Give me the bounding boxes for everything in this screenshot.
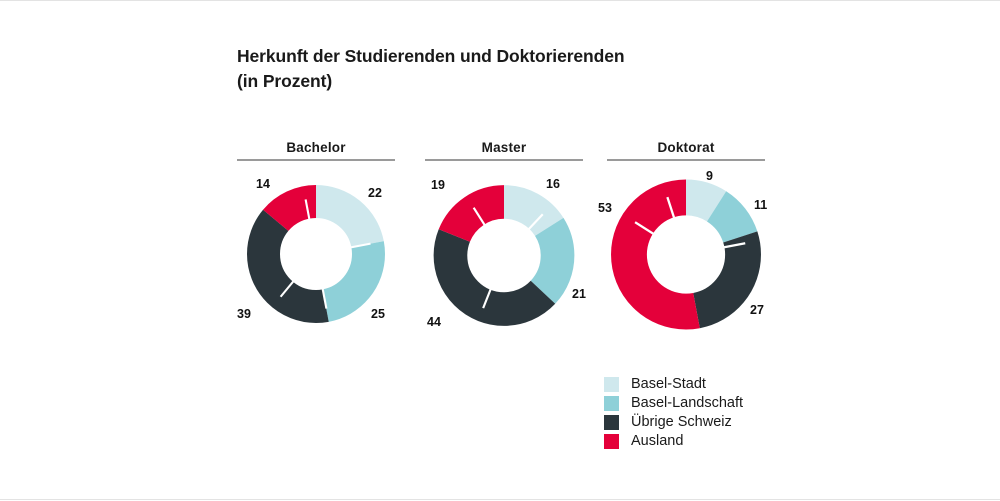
legend: Basel-Stadt Basel-Landschaft Übrige Schw… — [604, 375, 743, 451]
panel-master: Master — [425, 140, 583, 340]
label-doktorat-basel-landschaft: 11 — [754, 199, 767, 212]
panel-doktorat: Doktorat — [607, 140, 765, 345]
donut-bachelor — [241, 179, 391, 329]
legend-swatch-basel-landschaft — [604, 396, 619, 411]
legend-swatch-uebrige-schweiz — [604, 415, 619, 430]
legend-item-uebrige-schweiz[interactable]: Übrige Schweiz — [604, 413, 743, 432]
panel-doktorat-header: Doktorat — [607, 140, 765, 161]
label-bachelor-basel-stadt: 22 — [368, 187, 382, 200]
panel-doktorat-rule — [607, 159, 765, 161]
chart-canvas: Herkunft der Studierenden und Doktoriere… — [0, 0, 1000, 500]
donut-master — [428, 179, 581, 332]
panel-bachelor-title: Bachelor — [237, 140, 395, 156]
label-bachelor-uebrige-schweiz: 39 — [237, 308, 251, 321]
panel-bachelor-rule — [237, 159, 395, 161]
label-bachelor-ausland: 14 — [256, 178, 270, 191]
panel-master-rule — [425, 159, 583, 161]
legend-item-basel-landschaft[interactable]: Basel-Landschaft — [604, 394, 743, 413]
donut-panels: Bachelor — [0, 1, 1000, 501]
label-doktorat-uebrige-schweiz: 27 — [750, 304, 764, 317]
panel-doktorat-title: Doktorat — [607, 140, 765, 156]
panel-bachelor: Bachelor — [237, 140, 395, 340]
legend-label-basel-stadt: Basel-Stadt — [631, 377, 706, 392]
panel-bachelor-header: Bachelor — [237, 140, 395, 161]
legend-item-basel-stadt[interactable]: Basel-Stadt — [604, 375, 743, 394]
donut-doktorat — [605, 173, 768, 336]
panel-master-header: Master — [425, 140, 583, 161]
legend-item-ausland[interactable]: Ausland — [604, 432, 743, 451]
legend-swatch-basel-stadt — [604, 377, 619, 392]
label-master-uebrige-schweiz: 44 — [427, 316, 441, 329]
label-doktorat-basel-stadt: 9 — [706, 170, 713, 183]
label-master-ausland: 19 — [431, 179, 445, 192]
label-master-basel-stadt: 16 — [546, 178, 560, 191]
legend-label-ausland: Ausland — [631, 434, 683, 449]
label-master-basel-landschaft: 21 — [572, 288, 586, 301]
legend-swatch-ausland — [604, 434, 619, 449]
legend-label-basel-landschaft: Basel-Landschaft — [631, 396, 743, 411]
panel-master-title: Master — [425, 140, 583, 156]
legend-label-uebrige-schweiz: Übrige Schweiz — [631, 415, 732, 430]
label-doktorat-ausland: 53 — [598, 202, 612, 215]
label-bachelor-basel-landschaft: 25 — [371, 308, 385, 321]
